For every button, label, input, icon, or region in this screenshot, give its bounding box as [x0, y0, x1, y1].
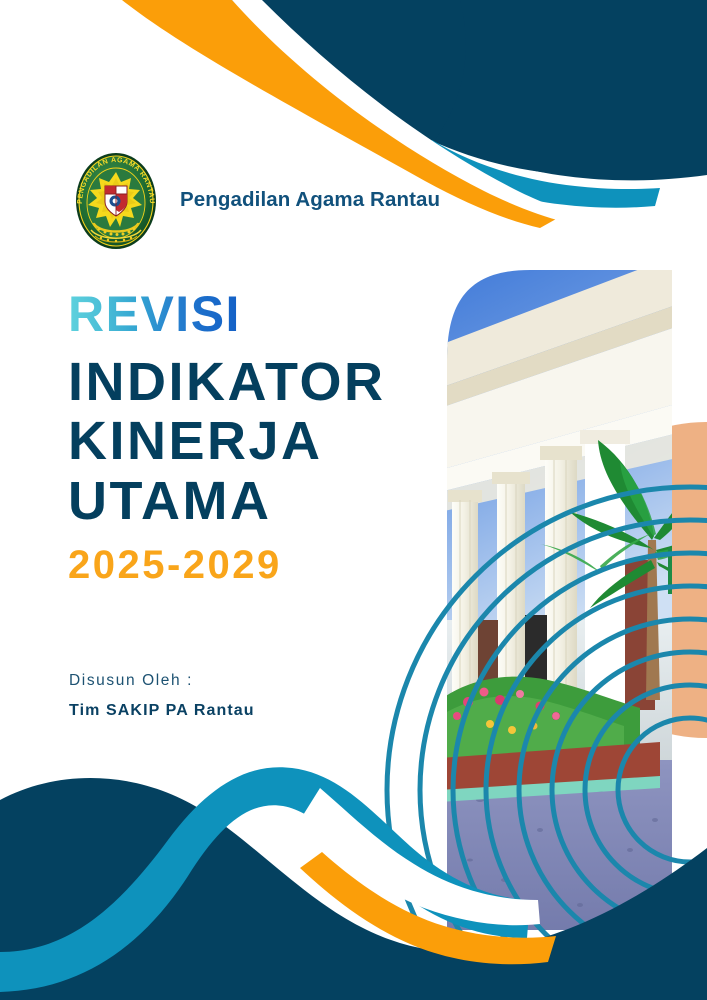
title-line-1: INDIKATOR — [68, 353, 386, 412]
title-block: REVISI INDIKATOR KINERJA UTAMA 2025-2029 — [68, 288, 386, 588]
author-label: Disusun Oleh : — [69, 672, 255, 690]
title-line-2: KINERJA — [68, 412, 386, 471]
author-name: Tim SAKIP PA Rantau — [69, 702, 255, 720]
header-block: PENGADILAN AGAMA RANTAU — [68, 148, 440, 252]
title-line-3: UTAMA — [68, 472, 386, 531]
document-kind: REVISI — [68, 288, 241, 341]
author-block: Disusun Oleh : Tim SAKIP PA Rantau — [69, 672, 255, 720]
court-emblem-icon: PENGADILAN AGAMA RANTAU — [68, 148, 164, 252]
organization-name: Pengadilan Agama Rantau — [180, 188, 440, 212]
document-years: 2025-2029 — [68, 543, 386, 588]
document-cover: PENGADILAN AGAMA RANTAU — [0, 0, 707, 1000]
